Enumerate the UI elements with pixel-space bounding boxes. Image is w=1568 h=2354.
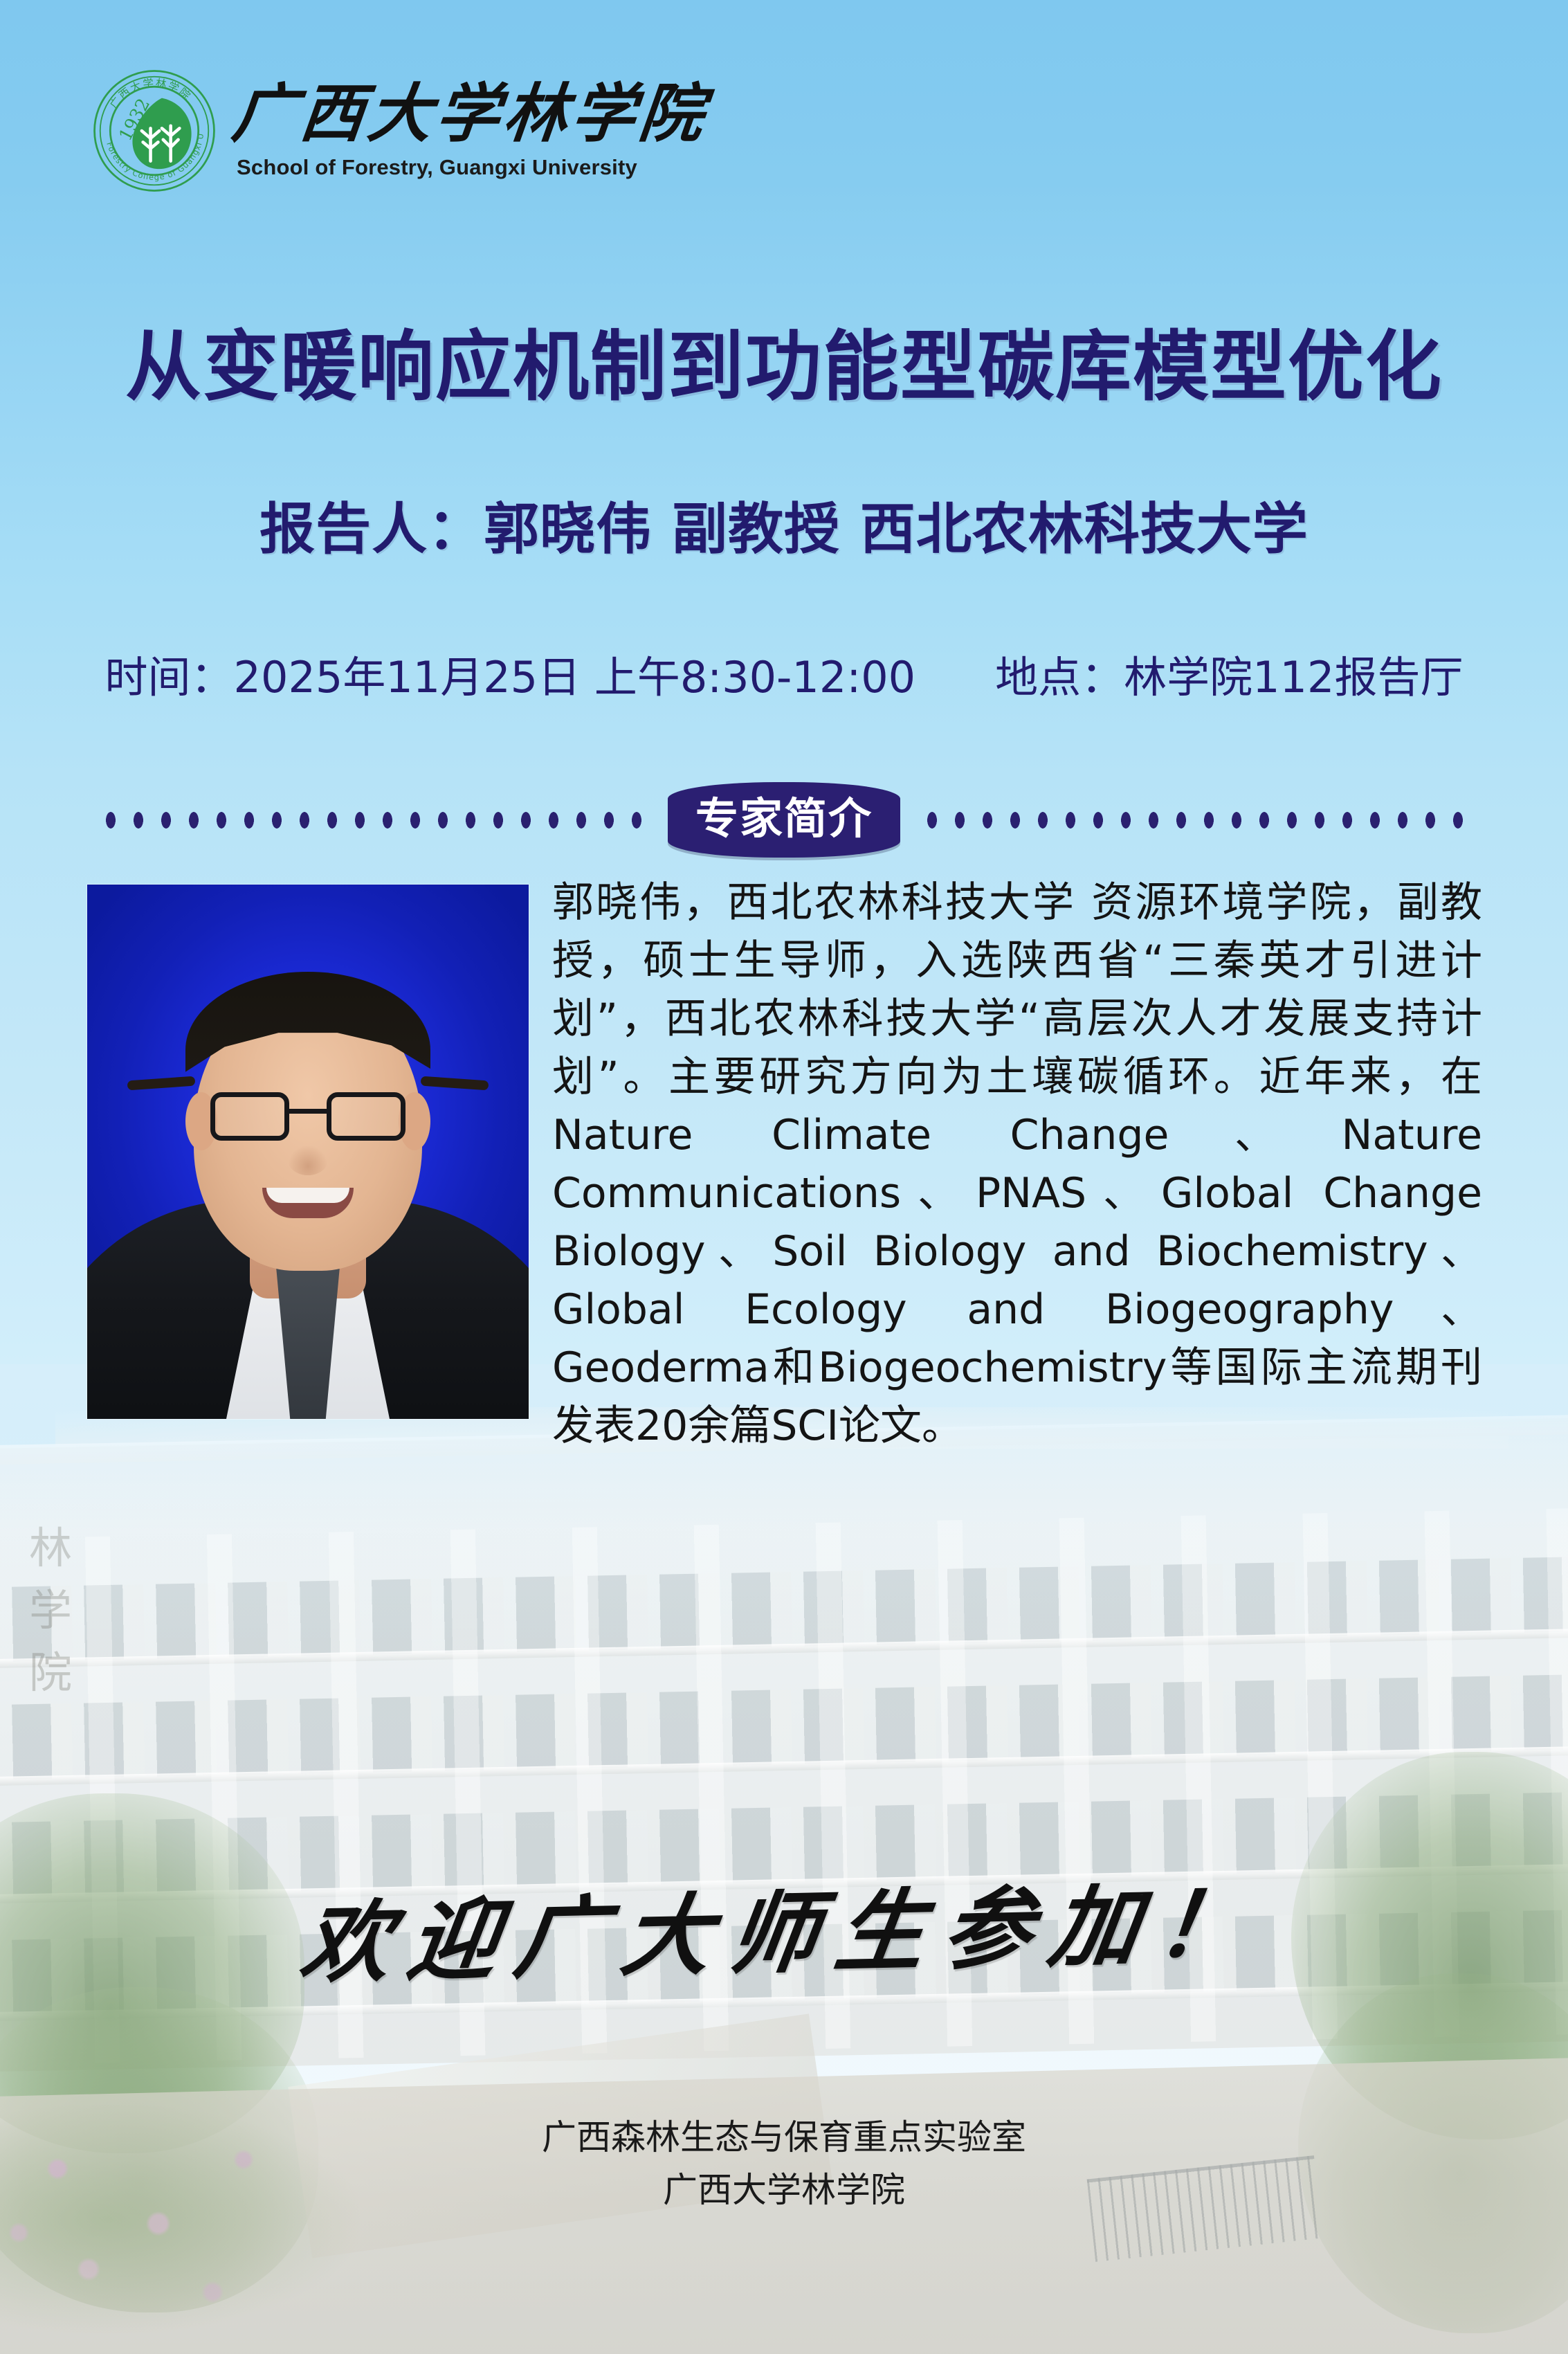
section-badge: 专家简介 bbox=[668, 782, 900, 858]
building-character-2: 学 bbox=[29, 1575, 72, 1638]
brand-header: 1932 广西大学林学院 Forestry College of Guangxi… bbox=[91, 66, 707, 195]
event-venue: 地点：林学院112报告厅 bbox=[995, 642, 1463, 705]
building-character-1: 林 bbox=[29, 1513, 72, 1575]
poster-root: 林 学 院 1932 bbox=[0, 0, 1568, 2354]
speaker-line: 报告人：郭晓伟 副教授 西北农林科技大学 bbox=[0, 485, 1568, 565]
event-meta: 时间：2025年11月25日 上午8:30-12:00 地点：林学院112报告厅 bbox=[0, 642, 1568, 705]
footer-org-name: 广西大学林学院 bbox=[0, 2164, 1568, 2216]
org-name-en: School of Forestry, Guangxi University bbox=[237, 155, 707, 180]
building-character-3: 院 bbox=[29, 1638, 72, 1700]
poster-footer: 广西森林生态与保育重点实验室 广西大学林学院 bbox=[0, 2111, 1568, 2216]
poster-title: 从变暖响应机制到功能型碳库模型优化 bbox=[0, 305, 1568, 415]
dotted-line-icon-right bbox=[918, 811, 1471, 829]
forestry-college-emblem-icon: 1932 广西大学林学院 Forestry College of Guangxi… bbox=[91, 66, 217, 195]
speaker-bio: 郭晓伟，西北农林科技大学 资源环境学院，副教授，硕士生导师，入选陕西省“三秦英才… bbox=[87, 873, 1482, 1455]
dotted-line-icon-left bbox=[97, 811, 650, 829]
welcome-calligraphy: 欢迎广大师生参加！ bbox=[0, 1845, 1568, 2006]
section-divider: 专家简介 bbox=[97, 782, 1471, 858]
event-time: 时间：2025年11月25日 上午8:30-12:00 bbox=[105, 642, 916, 705]
footer-lab-name: 广西森林生态与保育重点实验室 bbox=[0, 2111, 1568, 2164]
org-name-cn: 广西大学林学院 bbox=[229, 82, 711, 147]
